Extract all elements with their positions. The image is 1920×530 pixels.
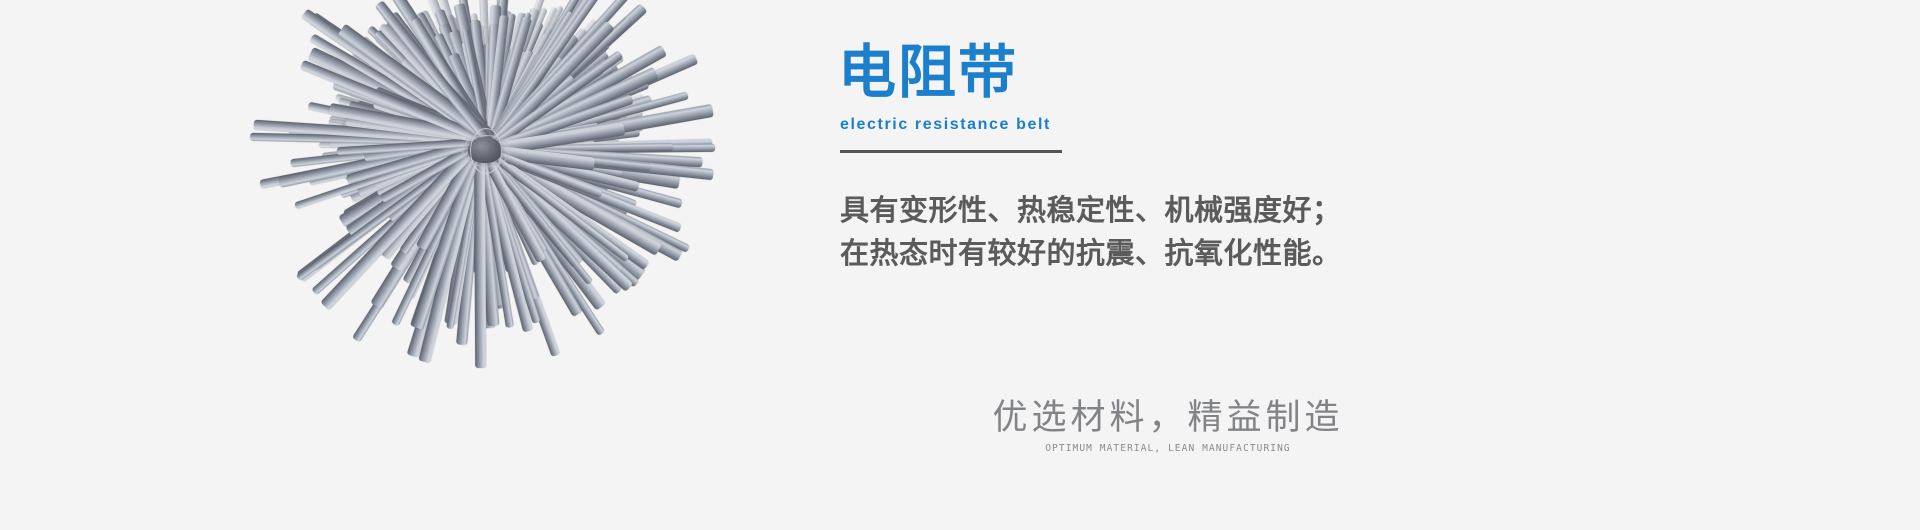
- description-line-2: 在热态时有较好的抗震、抗氧化性能。: [840, 233, 1460, 276]
- copy-column: 电阻带 electric resistance belt 具有变形性、热稳定性、…: [838, 0, 1738, 530]
- product-image-canvas: [300, 55, 670, 415]
- brand-slogan: 优选材料，精益制造 OPTIMUM MATERIAL, LEAN MANUFAC…: [938, 398, 1398, 454]
- product-banner: 电阻带 electric resistance belt 具有变形性、热稳定性、…: [0, 0, 1920, 530]
- hub-wire-inner-icon: [470, 128, 502, 174]
- page-subtitle: electric resistance belt: [840, 116, 1051, 134]
- slogan-zh: 优选材料，精益制造: [938, 398, 1398, 438]
- product-description: 具有变形性、热稳定性、机械强度好； 在热态时有较好的抗震、抗氧化性能。: [840, 190, 1460, 276]
- slogan-en: OPTIMUM MATERIAL, LEAN MANUFACTURING: [938, 443, 1398, 454]
- description-line-1: 具有变形性、热稳定性、机械强度好；: [840, 190, 1460, 233]
- product-image: [300, 55, 670, 415]
- ribbon-strip: [474, 144, 487, 368]
- title-divider: [840, 150, 1062, 153]
- page-title: 电阻带: [838, 44, 1018, 102]
